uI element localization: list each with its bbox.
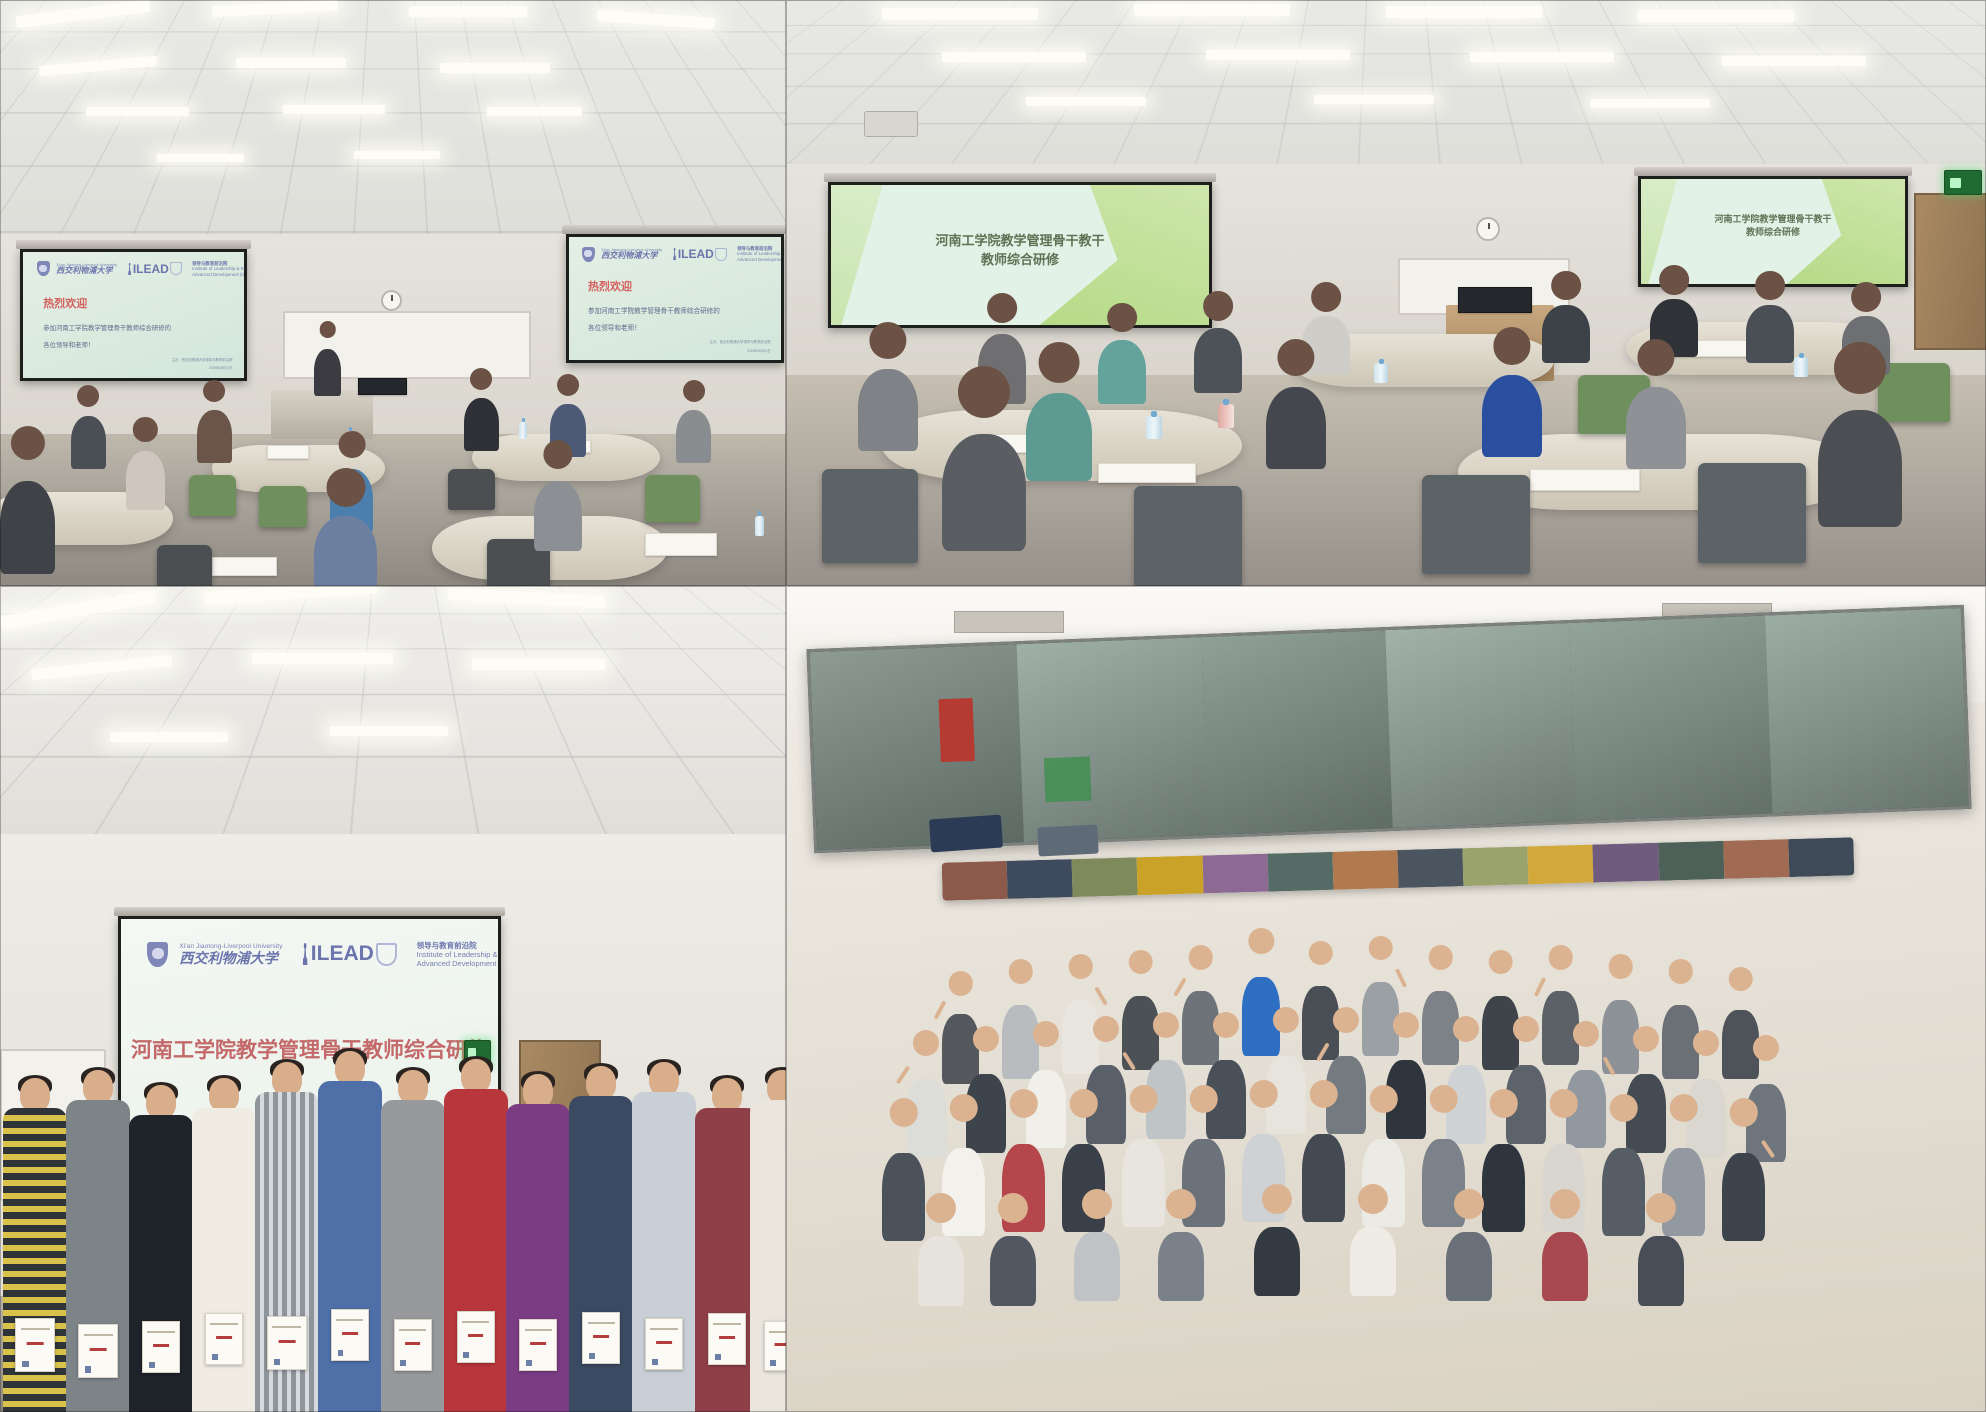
chair xyxy=(1134,486,1242,586)
participant xyxy=(1266,387,1326,469)
participant-foreground xyxy=(1818,410,1902,527)
certificate xyxy=(708,1313,746,1365)
participant xyxy=(1098,340,1146,404)
chair xyxy=(645,475,700,522)
ceiling-vent xyxy=(954,611,1064,634)
crowd-member xyxy=(1002,1005,1039,1079)
crest-icon xyxy=(37,261,50,276)
ceiling-3 xyxy=(0,586,786,867)
participant xyxy=(126,451,165,510)
honoree xyxy=(448,1059,503,1412)
ceiling-lamp xyxy=(1026,97,1146,106)
ceiling-lamp xyxy=(472,659,606,670)
lecture-room-2: 河南工学院教学管理骨干教干 教师综合研修 河南工学院教学管理骨干教干 教师综合研… xyxy=(786,0,1986,586)
bag xyxy=(1037,824,1098,856)
head xyxy=(20,1078,50,1112)
ceiling-lamp xyxy=(1206,50,1350,60)
honoree-lineup xyxy=(0,1032,786,1412)
crowd-member-front xyxy=(1350,1227,1396,1296)
participant xyxy=(534,481,581,551)
slide-program-text: 河南工学院教学管理骨干教干 教师综合研修 xyxy=(831,232,1209,270)
water-bottle xyxy=(755,516,764,536)
water-bottle xyxy=(519,422,528,440)
crowd-member xyxy=(942,1014,979,1083)
handout xyxy=(645,533,718,556)
slide-program-main: 河南工学院教学管理骨干教干 教师综合研修 xyxy=(831,185,1209,326)
shield-icon xyxy=(715,248,726,261)
ceiling-lamp xyxy=(487,107,581,116)
water-bottle xyxy=(1374,363,1388,383)
screen-casing xyxy=(16,240,250,249)
panel-classroom-discussion: 河南工学院教学管理骨干教干 教师综合研修 河南工学院教学管理骨干教干 教师综合研… xyxy=(786,0,1986,586)
speaker xyxy=(314,349,341,396)
participant xyxy=(1626,387,1686,469)
torso xyxy=(192,1108,256,1412)
participant xyxy=(1542,305,1590,364)
ceiling-lamp xyxy=(1314,95,1434,104)
certificate xyxy=(457,1311,495,1363)
ceiling-lamp xyxy=(330,726,448,736)
head xyxy=(209,1078,239,1112)
head xyxy=(586,1066,616,1100)
slide-headline: 热烈欢迎 xyxy=(43,295,87,311)
ilead-logo: ILEAD xyxy=(128,262,182,276)
exit-sign[interactable] xyxy=(1944,170,1982,195)
liver-building-tower-icon xyxy=(673,248,677,261)
crowd-member-front xyxy=(1638,1236,1684,1305)
water-bottle xyxy=(1146,416,1162,439)
head xyxy=(146,1085,176,1119)
slide-footer-host: 主办：西交利物浦大学领导与教育前沿院 xyxy=(709,339,770,344)
crowd-member xyxy=(882,1153,925,1241)
chair xyxy=(448,469,495,510)
crest-icon xyxy=(147,942,168,967)
participant xyxy=(676,410,711,463)
crowd-member-front xyxy=(918,1236,964,1305)
head xyxy=(272,1062,302,1096)
ceiling-lamp xyxy=(283,105,385,114)
reflected-banner xyxy=(938,698,975,763)
institute-name: 领导与教育前沿院 Institute of Leadership & Educa… xyxy=(192,261,243,277)
ceiling-lamp xyxy=(1590,99,1710,108)
slide-body-line-1: 参加河南工学院教学管理骨干教师综合研修的 xyxy=(588,305,720,315)
participant xyxy=(1194,328,1242,392)
head xyxy=(398,1070,428,1104)
participant-foreground xyxy=(942,434,1026,551)
thermos xyxy=(1218,404,1234,427)
ceiling-lamp xyxy=(1386,6,1542,18)
crowd-member-front xyxy=(1158,1232,1204,1301)
participant xyxy=(71,416,106,469)
ceiling-lamp xyxy=(252,653,393,664)
panel-opening-lecture: Xi'an Jiaotong-Liverpool University 西交利物… xyxy=(0,0,786,586)
wall-clock xyxy=(1476,217,1500,241)
chair xyxy=(157,545,212,586)
crowd-member xyxy=(1122,1139,1165,1227)
certificate xyxy=(764,1321,786,1371)
honoree xyxy=(259,1062,314,1412)
slide-body-line-1: 参加河南工学院教学管理骨干教师综合研修的 xyxy=(43,323,171,332)
screen-casing xyxy=(824,173,1216,182)
ceiling-lamp xyxy=(440,63,550,73)
screen-casing xyxy=(562,225,786,234)
reflected-greenery xyxy=(1044,757,1092,802)
honoree xyxy=(197,1078,252,1412)
crowd-group xyxy=(786,949,1986,1412)
institute-name: 领导与教育前沿院 Institute of Leadership & Educa… xyxy=(737,246,781,262)
head xyxy=(523,1074,553,1108)
participant xyxy=(197,410,232,463)
crowd-member xyxy=(1062,1000,1099,1074)
university-name: Xi'an Jiaotong-Liverpool University 西交利物… xyxy=(56,263,117,275)
participant xyxy=(1482,375,1542,457)
screen-casing xyxy=(114,907,505,916)
slide-body-line-2: 各位领导和老师！ xyxy=(43,340,94,349)
torso xyxy=(569,1096,633,1412)
participant xyxy=(464,398,499,451)
ceiling-lamp xyxy=(882,8,1038,20)
shield-icon xyxy=(170,262,181,275)
chair xyxy=(189,475,236,516)
slide-footer-host: 主办：西交利物浦大学领导与教育前沿院 xyxy=(171,357,232,362)
slide-program-text: 河南工学院教学管理骨干教干 教师综合研修 xyxy=(1641,213,1905,239)
laptop xyxy=(358,378,407,395)
crowd-member-front xyxy=(1542,1232,1588,1301)
handout xyxy=(1098,463,1196,483)
ceiling-lamp xyxy=(1722,56,1866,66)
crowd-member-front xyxy=(1446,1232,1492,1301)
head xyxy=(649,1062,679,1096)
participant-foreground xyxy=(0,481,55,575)
slide-headline: 热烈欢迎 xyxy=(588,278,632,294)
projection-screen-main: 河南工学院教学管理骨干教干 教师综合研修 xyxy=(828,182,1212,329)
crowd-member xyxy=(1722,1153,1765,1241)
participant xyxy=(1746,305,1794,364)
crowd-member xyxy=(1602,1148,1645,1236)
ceiling-lamp xyxy=(1470,52,1614,62)
liver-building-tower-icon xyxy=(128,263,132,276)
honoree xyxy=(71,1070,126,1412)
ceiling-lamp xyxy=(942,52,1086,62)
crowd-member xyxy=(942,1148,985,1236)
ceiling-projector xyxy=(864,111,918,136)
classroom-door xyxy=(1914,193,1986,349)
slide-footer-date: 2019年08月11日 xyxy=(747,348,771,353)
slide-welcome-left: Xi'an Jiaotong-Liverpool University 西交利物… xyxy=(23,252,243,378)
crowd-member xyxy=(1662,1148,1705,1236)
honoree xyxy=(385,1070,440,1412)
shield-icon xyxy=(376,943,396,966)
ceiling-lamp xyxy=(409,6,527,17)
head xyxy=(461,1059,491,1093)
honoree xyxy=(755,1070,786,1412)
panel-certificate-ceremony: Xi'an Jiaotong-Liverpool University 西交利物… xyxy=(0,586,786,1412)
honoree xyxy=(134,1085,189,1412)
ilead-logo: ILEAD xyxy=(302,942,397,966)
atrium-hall xyxy=(786,586,1986,1412)
participant xyxy=(858,369,918,451)
honoree xyxy=(700,1078,755,1412)
crowd-member xyxy=(1482,1144,1525,1232)
crowd-member-front xyxy=(1254,1227,1300,1296)
certificate xyxy=(519,1319,557,1371)
certificate xyxy=(331,1309,369,1361)
ceiling-lamp xyxy=(86,107,188,116)
ceiling-lamp xyxy=(110,732,228,742)
university-name: Xi'an Jiaotong-Liverpool University 西交利物… xyxy=(179,944,282,965)
honoree xyxy=(637,1062,692,1412)
head xyxy=(712,1078,742,1112)
certificate xyxy=(142,1321,180,1373)
handout xyxy=(212,557,277,577)
torso xyxy=(444,1089,508,1412)
panel-group-photo xyxy=(786,586,1986,1412)
ceiling-lamp xyxy=(236,58,346,68)
projection-screen-left: Xi'an Jiaotong-Liverpool University 西交利物… xyxy=(20,249,246,381)
screen-casing xyxy=(1634,167,1912,176)
institute-name: 领导与教育前沿院 Institute of Leadership & Educa… xyxy=(417,941,498,968)
lecture-room-1: Xi'an Jiaotong-Liverpool University 西交利物… xyxy=(0,0,786,586)
ceiling-lamp xyxy=(1134,4,1290,16)
head xyxy=(767,1070,786,1104)
ceiling-lamp xyxy=(354,151,440,159)
ceiling-lamp xyxy=(1638,10,1794,22)
participant-foreground xyxy=(314,516,377,586)
certificate xyxy=(267,1316,307,1370)
participant xyxy=(1026,393,1092,481)
torso xyxy=(318,1081,382,1412)
crowd-member-front xyxy=(990,1236,1036,1305)
chair xyxy=(1422,475,1530,575)
chair xyxy=(1698,463,1806,563)
crowd-member xyxy=(1362,1139,1405,1227)
head xyxy=(335,1051,365,1085)
chair xyxy=(822,469,918,563)
backpack xyxy=(929,815,1003,853)
handout xyxy=(1530,469,1640,492)
slide-body-line-2: 各位领导和老师！ xyxy=(588,322,641,332)
honoree xyxy=(511,1074,566,1412)
water-bottle xyxy=(1794,357,1808,377)
certificate xyxy=(15,1318,55,1372)
certificate xyxy=(78,1324,118,1378)
crowd-member-front xyxy=(1074,1232,1120,1301)
certificate xyxy=(582,1312,620,1364)
monitor xyxy=(1458,287,1532,312)
certificate xyxy=(205,1313,243,1365)
honoree xyxy=(8,1078,63,1412)
photo-collage: Xi'an Jiaotong-Liverpool University 西交利物… xyxy=(0,0,1986,1412)
certificate xyxy=(394,1319,432,1371)
slide-footer-date: 2019年08月11日 xyxy=(209,365,233,370)
university-name: Xi'an Jiaotong-Liverpool University 西交利物… xyxy=(601,248,662,260)
handout xyxy=(267,445,308,459)
chair xyxy=(259,486,306,527)
ceremony-room: Xi'an Jiaotong-Liverpool University 西交利物… xyxy=(0,586,786,1412)
certificate xyxy=(645,1318,683,1370)
crest-icon xyxy=(582,247,595,262)
slide-welcome-right: Xi'an Jiaotong-Liverpool University 西交利物… xyxy=(569,237,781,360)
ilead-logo: ILEAD xyxy=(673,247,727,261)
crowd-member xyxy=(1302,1134,1345,1222)
honoree xyxy=(574,1066,629,1412)
liver-building-tower-icon xyxy=(302,943,309,965)
ceiling-lamp xyxy=(157,154,243,162)
projection-screen-right: Xi'an Jiaotong-Liverpool University 西交利物… xyxy=(566,234,784,363)
honoree xyxy=(322,1051,377,1412)
head xyxy=(83,1070,113,1104)
